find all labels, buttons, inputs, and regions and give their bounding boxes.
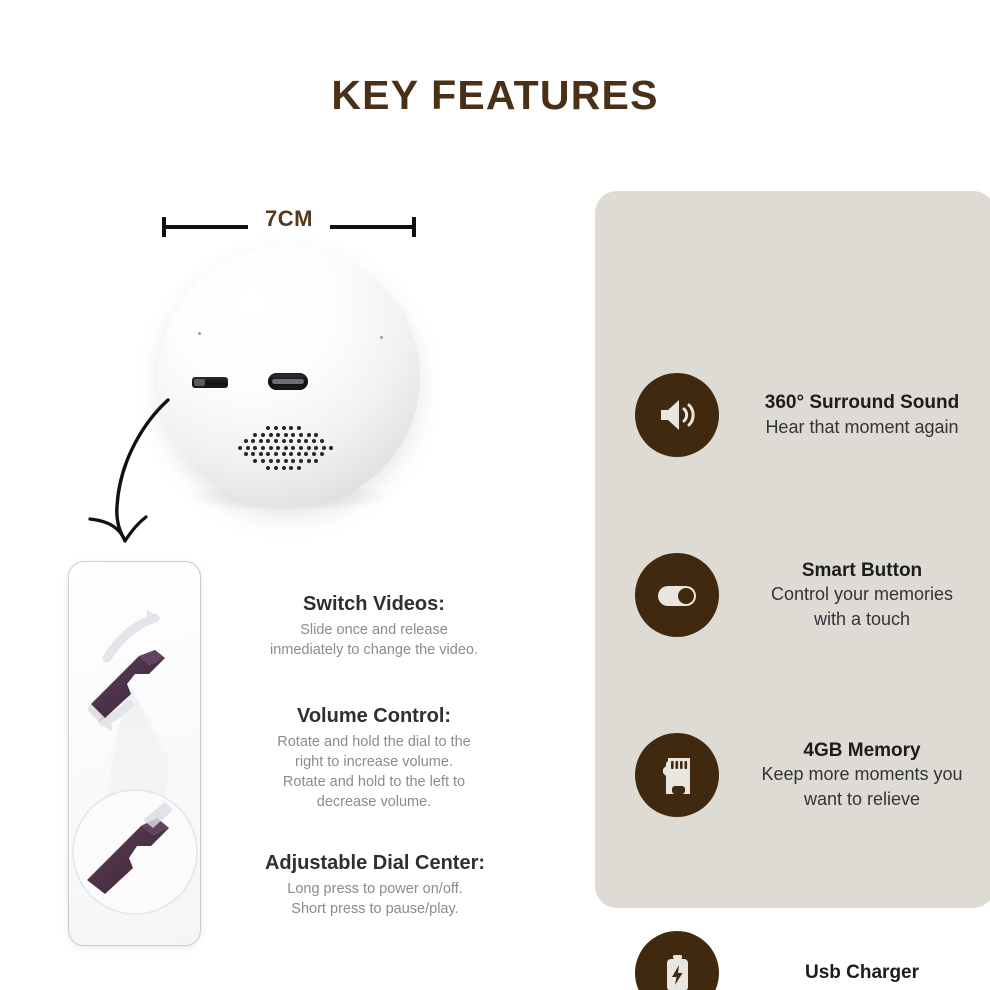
instruction-line: Slide once and release: [224, 620, 524, 640]
battery-charge-icon: [635, 931, 719, 990]
instruction-line: Rotate and hold the dial to the: [224, 732, 524, 752]
feature-subtitle-line: Control your memories: [733, 583, 990, 606]
instruction-adjustable-dial-center: Adjustable Dial Center: Long press to po…: [215, 851, 535, 919]
memory-card-icon: [635, 733, 719, 817]
instruction-line: Rotate and hold to the left to: [224, 772, 524, 792]
feature-subtitle-line: with a touch: [733, 608, 990, 631]
feature-title: Smart Button: [733, 559, 990, 583]
microphone-hole-icon: [198, 332, 201, 335]
instruction-line: decrease volume.: [224, 792, 524, 812]
usb-c-port-icon: [268, 373, 308, 390]
instruction-line: Short press to pause/play.: [215, 899, 535, 919]
dial-illustration: [69, 562, 201, 946]
speaker-grille-icon: [236, 426, 336, 474]
slide-switch-icon: [192, 377, 228, 388]
feature-title: 4GB Memory: [733, 739, 990, 763]
dimension-indicator: 7CM: [160, 206, 418, 240]
instruction-switch-videos: Switch Videos: Slide once and release in…: [224, 592, 524, 660]
feature-subtitle-line: want to relieve: [733, 788, 990, 811]
feature-text: Smart Button Control your memories with …: [733, 559, 990, 632]
instruction-heading: Adjustable Dial Center:: [215, 851, 535, 876]
feature-text: 360° Surround Sound Hear that moment aga…: [733, 391, 990, 439]
curved-arrow-icon: [72, 388, 202, 553]
page-title: KEY FEATURES: [0, 72, 990, 119]
instruction-line: inmediately to change the video.: [224, 640, 524, 660]
instruction-line: Long press to power on/off.: [215, 879, 535, 899]
dimension-cap-right: [412, 217, 416, 237]
instruction-heading: Switch Videos:: [224, 592, 524, 617]
feature-text: 4GB Memory Keep more moments you want to…: [733, 739, 990, 812]
infographic-page: KEY FEATURES 7CM: [0, 0, 990, 990]
feature-text: Usb Charger: [733, 961, 990, 985]
toggle-switch-icon: [635, 553, 719, 637]
feature-subtitle-line: Hear that moment again: [733, 416, 990, 439]
instruction-line: right to increase volume.: [224, 752, 524, 772]
feature-title: Usb Charger: [733, 961, 990, 985]
features-panel: 360° Surround Sound Hear that moment aga…: [595, 191, 990, 908]
dimension-line-right: [330, 225, 414, 229]
microphone-hole-icon: [380, 336, 383, 339]
instruction-volume-control: Volume Control: Rotate and hold the dial…: [224, 704, 524, 812]
speaker-volume-icon: [635, 373, 719, 457]
instruction-heading: Volume Control:: [224, 704, 524, 729]
feature-subtitle-line: Keep more moments you: [733, 763, 990, 786]
feature-title: 360° Surround Sound: [733, 391, 990, 415]
dial-switch-closeup-image: [68, 561, 201, 946]
